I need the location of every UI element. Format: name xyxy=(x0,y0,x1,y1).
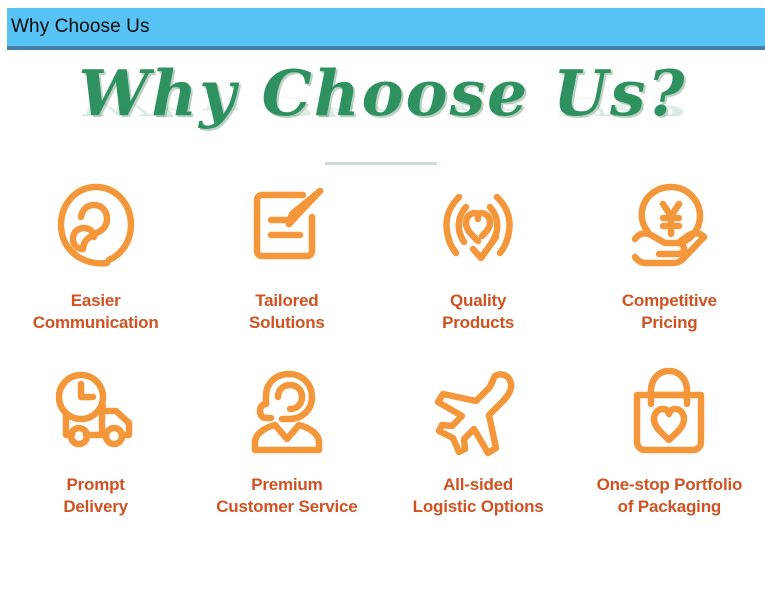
feature-grid: Easier Communication Tailored Solutions xyxy=(0,174,765,518)
feature-row-2: Prompt Delivery Premium Customer Service xyxy=(0,364,765,518)
feature-item-easier-communication[interactable]: Easier Communication xyxy=(0,174,191,334)
feature-label: Prompt Delivery xyxy=(63,474,128,518)
window-titlebar: Why Choose Us xyxy=(7,8,765,50)
hand-yen-coin-icon xyxy=(623,174,715,276)
feature-item-one-stop-portfolio-of-packaging[interactable]: One-stop Portfolio of Packaging xyxy=(574,364,765,518)
hero-section: Why Choose Us? Why Choose Us? xyxy=(0,54,765,166)
feature-label: Competitive Pricing xyxy=(622,290,717,334)
feature-item-quality-products[interactable]: Quality Products xyxy=(383,174,574,334)
airplane-icon xyxy=(432,364,524,460)
feature-row-1: Easier Communication Tailored Solutions xyxy=(0,174,765,334)
feature-label: Quality Products xyxy=(442,290,514,334)
headset-agent-icon xyxy=(241,364,333,460)
feature-label: Tailored Solutions xyxy=(249,290,325,334)
hero-divider xyxy=(325,162,437,165)
feature-label: Easier Communication xyxy=(33,290,159,334)
feature-item-prompt-delivery[interactable]: Prompt Delivery xyxy=(0,364,191,518)
feature-label: One-stop Portfolio of Packaging xyxy=(597,474,743,518)
page-content: Why Choose Us? Why Choose Us? Easier Com… xyxy=(0,54,765,599)
document-pencil-icon xyxy=(241,174,333,276)
window-title: Why Choose Us xyxy=(7,16,150,38)
shopping-bag-heart-icon xyxy=(623,364,715,460)
feature-item-tailored-solutions[interactable]: Tailored Solutions xyxy=(191,174,382,334)
feature-item-competitive-pricing[interactable]: Competitive Pricing xyxy=(574,174,765,334)
feature-item-all-sided-logistic-options[interactable]: All-sided Logistic Options xyxy=(383,364,574,518)
page-title: Why Choose Us? xyxy=(79,56,687,130)
feature-label: Premium Customer Service xyxy=(216,474,357,518)
feature-item-premium-customer-service[interactable]: Premium Customer Service xyxy=(191,364,382,518)
delivery-truck-clock-icon xyxy=(50,364,142,460)
feature-label: All-sided Logistic Options xyxy=(413,474,544,518)
heart-signal-check-icon xyxy=(432,174,524,276)
ear-listening-icon xyxy=(50,174,142,276)
